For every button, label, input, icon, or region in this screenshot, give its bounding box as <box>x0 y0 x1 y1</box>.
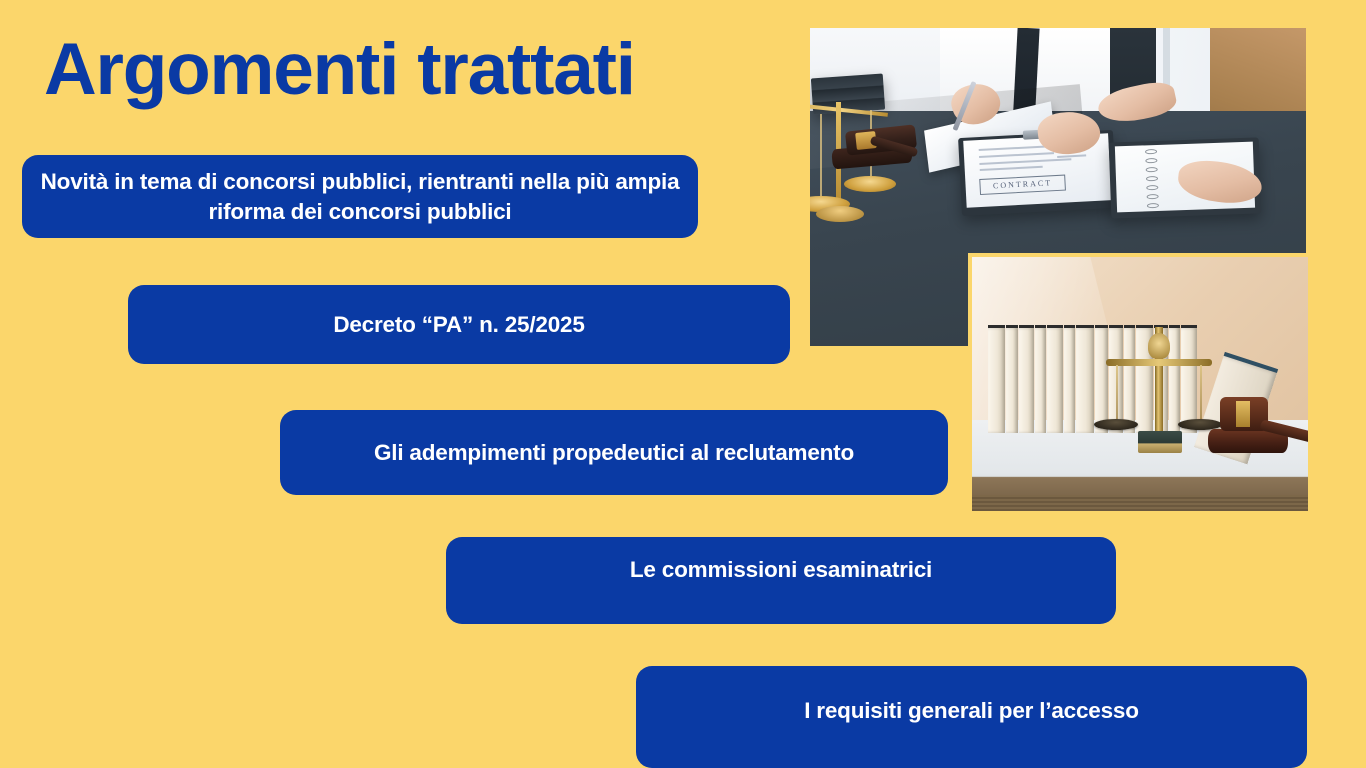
topic-box-4[interactable]: Le commissioni esaminatrici <box>446 537 1116 624</box>
topic-box-4-label: Le commissioni esaminatrici <box>446 537 1116 585</box>
gavel-brass-band <box>1236 401 1250 427</box>
topic-box-1-label: Novità in tema di concorsi pubblici, rie… <box>22 167 698 226</box>
scales-pan-left <box>1094 419 1138 430</box>
scales-pan-right <box>844 176 896 192</box>
page-title: Argomenti trattati <box>44 32 635 109</box>
contract-label: CONTRACT <box>979 175 1066 195</box>
scales-chain-right <box>1200 365 1202 421</box>
topic-box-2[interactable]: Decreto “PA” n. 25/2025 <box>128 285 790 364</box>
topic-box-5-label: I requisiti generali per l’accesso <box>636 666 1307 726</box>
topic-box-1[interactable]: Novità in tema di concorsi pubblici, rie… <box>22 155 698 238</box>
topic-box-3[interactable]: Gli adempimenti propedeutici al reclutam… <box>280 410 948 495</box>
topic-box-3-label: Gli adempimenti propedeutici al reclutam… <box>280 438 948 468</box>
notebook-spiral <box>1145 147 1159 211</box>
scales-crossbar <box>1106 359 1212 366</box>
scales-chain-left <box>820 114 822 196</box>
scales-of-justice <box>1100 319 1218 453</box>
scales-base <box>816 206 864 222</box>
topic-box-5[interactable]: I requisiti generali per l’accesso <box>636 666 1307 768</box>
law-books-scales-gavel-photo <box>968 253 1308 511</box>
slide-canvas: Argomenti trattati Novità in tema di con… <box>0 0 1366 768</box>
scales-base <box>1138 431 1182 453</box>
scales-finial <box>1148 333 1170 359</box>
scales-chain-left <box>1116 365 1118 421</box>
topic-box-2-label: Decreto “PA” n. 25/2025 <box>128 310 790 340</box>
